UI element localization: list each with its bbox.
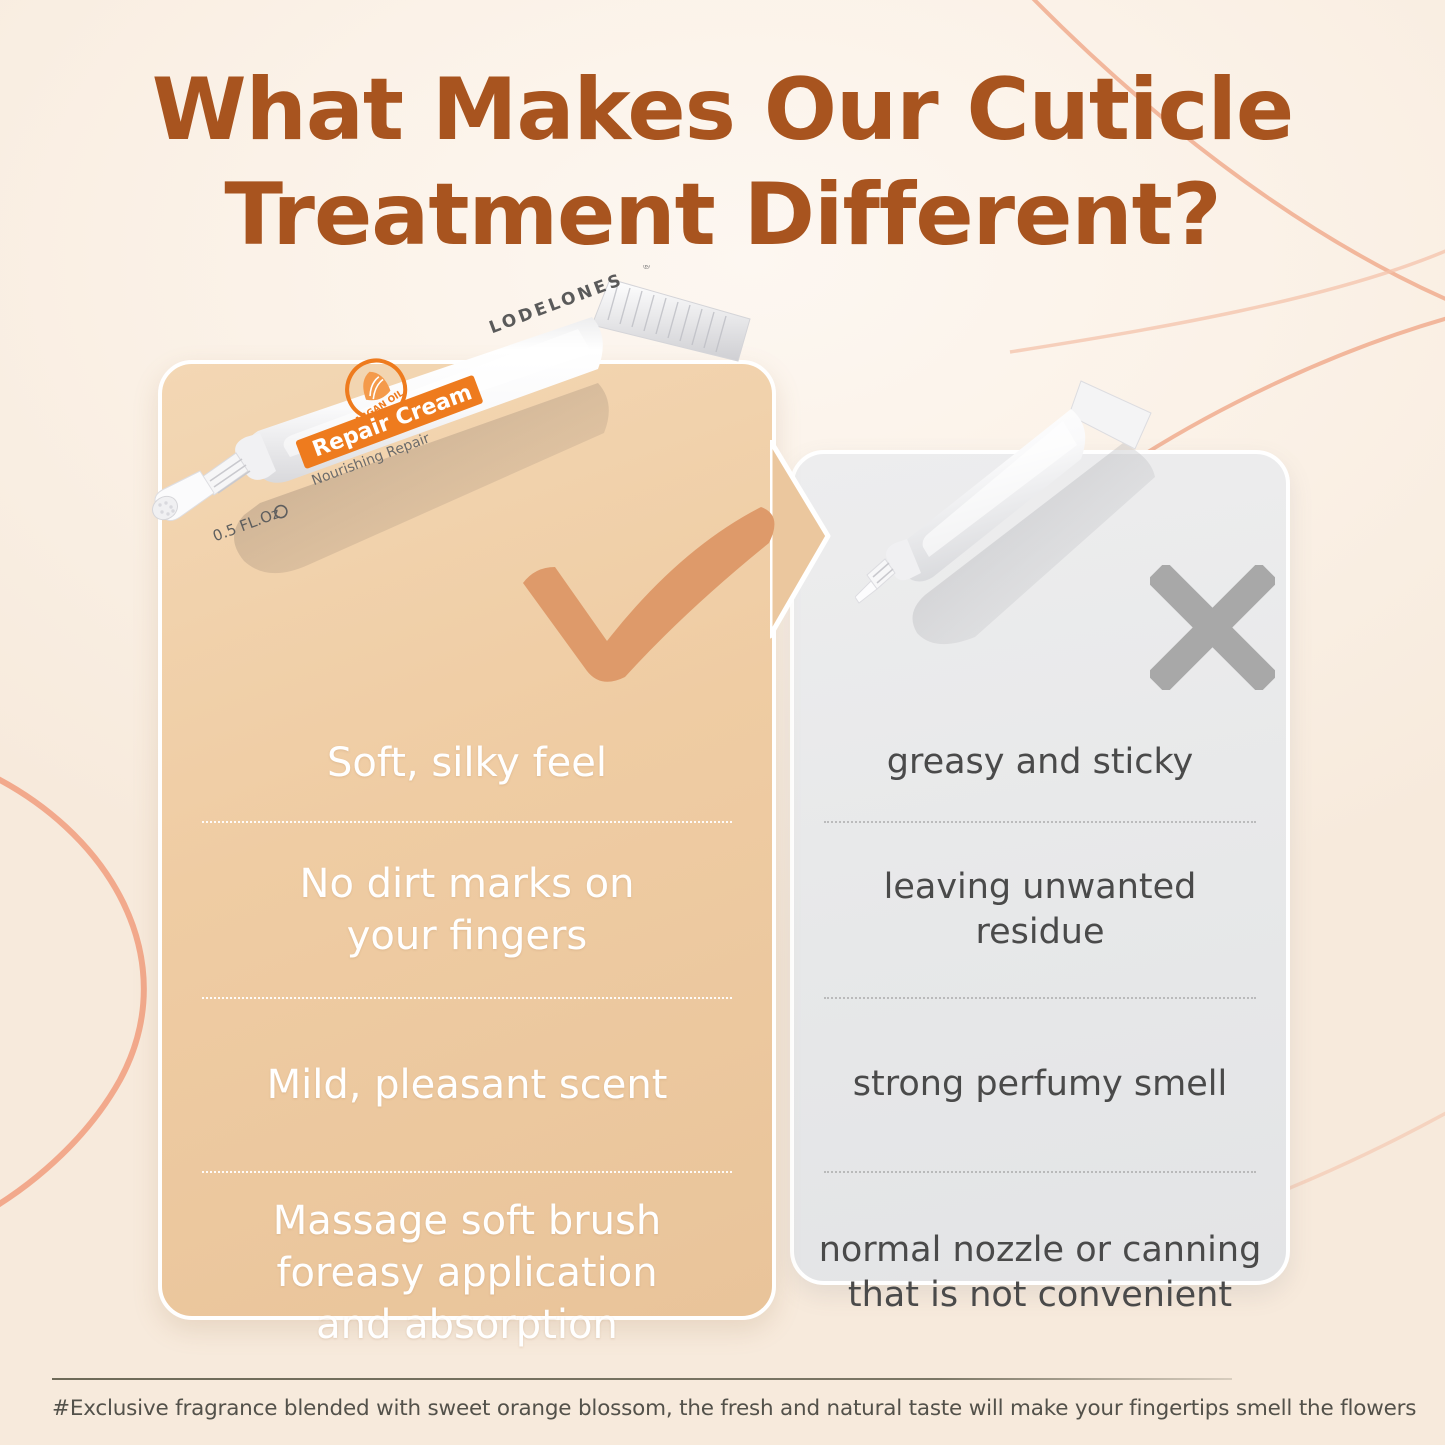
feature-list-bad: greasy and sticky leaving unwantedresidu…: [812, 705, 1268, 1373]
list-item: strong perfumy smell: [812, 999, 1268, 1171]
feature-list-good: Soft, silky feel No dirt marks onyour fi…: [190, 705, 744, 1373]
list-item: leaving unwantedresidue: [812, 823, 1268, 997]
feature-good-0: Soft, silky feel: [327, 737, 607, 789]
title-line-2: Treatment Different?: [0, 163, 1445, 268]
svg-text:®: ®: [641, 265, 653, 273]
list-item: Soft, silky feel: [190, 705, 744, 821]
list-item: normal nozzle or canningthat is not conv…: [812, 1173, 1268, 1373]
list-item: No dirt marks onyour fingers: [190, 823, 744, 997]
infographic-canvas: What Makes Our Cuticle Treatment Differe…: [0, 0, 1445, 1445]
list-item: Mild, pleasant scent: [190, 999, 744, 1171]
footer-note: #Exclusive fragrance blended with sweet …: [52, 1396, 1302, 1421]
page-title: What Makes Our Cuticle Treatment Differe…: [0, 58, 1445, 268]
footer-divider: [52, 1378, 1232, 1380]
feature-good-3: Massage soft brushforeasy applicationand…: [273, 1195, 661, 1351]
feature-good-1: No dirt marks onyour fingers: [300, 858, 635, 962]
title-line-1: What Makes Our Cuticle: [152, 60, 1294, 160]
feature-bad-3: normal nozzle or canningthat is not conv…: [819, 1228, 1262, 1319]
feature-good-2: Mild, pleasant scent: [267, 1059, 668, 1111]
feature-bad-1: leaving unwantedresidue: [884, 865, 1197, 956]
cross-mark-icon: [1150, 565, 1275, 690]
list-item: greasy and sticky: [812, 705, 1268, 821]
feature-bad-0: greasy and sticky: [887, 740, 1194, 786]
list-item: Massage soft brushforeasy applicationand…: [190, 1173, 744, 1373]
check-mark-icon: [515, 505, 815, 685]
feature-bad-2: strong perfumy smell: [853, 1062, 1227, 1108]
